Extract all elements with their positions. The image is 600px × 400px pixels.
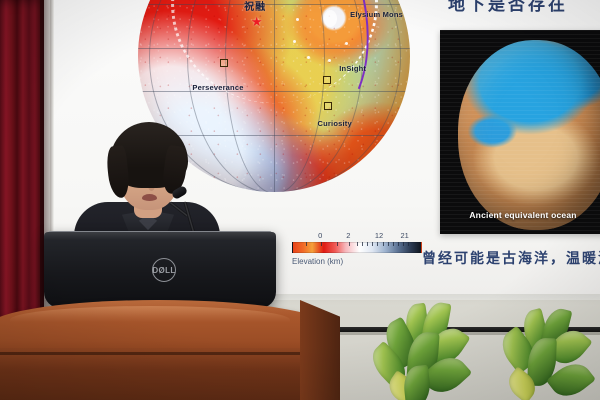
podium-right-edge	[300, 300, 340, 400]
potted-plant-right	[498, 308, 600, 400]
presenter-mouth	[142, 194, 157, 201]
slide-heading-cn: 地下是否存在	[448, 0, 568, 15]
label-perseverance: Perseverance	[192, 83, 243, 92]
elevation-colorbar: 0 2 12 21 Elevation (km)	[292, 242, 432, 266]
colorbar-tick-3: 21	[400, 231, 408, 240]
red-curtain	[0, 0, 44, 330]
colorbar-title: Elevation (km)	[292, 257, 432, 266]
colorbar-tick-2: 12	[375, 231, 383, 240]
dell-logo-icon: DØLL	[152, 258, 176, 282]
ancient-ocean-caption: Ancient equivalent ocean	[440, 210, 600, 220]
colorbar-tick-labels: 0 2 12 21	[292, 231, 420, 241]
colorbar-ticks	[293, 242, 421, 252]
colorbar-tick-0: 0	[318, 231, 322, 240]
colorbar-gradient	[292, 242, 422, 253]
label-curiosity: Curiosity	[318, 119, 352, 128]
potted-plant-left	[368, 300, 488, 400]
perseverance-site-marker	[220, 59, 228, 67]
label-insight: InSight	[339, 64, 366, 73]
slide-subtext-cn: 曾经可能是古海洋，温暖湿	[422, 248, 600, 268]
colorbar-tick-1: 2	[346, 231, 350, 240]
ancient-ocean-planet	[458, 40, 600, 230]
presentation-photo-scene: 地下是否存在	[0, 0, 600, 400]
insight-site-marker	[323, 76, 331, 84]
podium-panel-seam	[0, 352, 340, 355]
podium-front-panel	[0, 348, 340, 400]
label-zhurong-cn: 祝融	[244, 0, 266, 13]
curiosity-site-marker	[324, 102, 332, 110]
zhurong-landing-star-icon: ★	[251, 15, 263, 28]
label-elysium-mons: Elysium Mons	[350, 10, 403, 19]
ancient-ocean-figure: Ancient equivalent ocean	[440, 30, 600, 234]
